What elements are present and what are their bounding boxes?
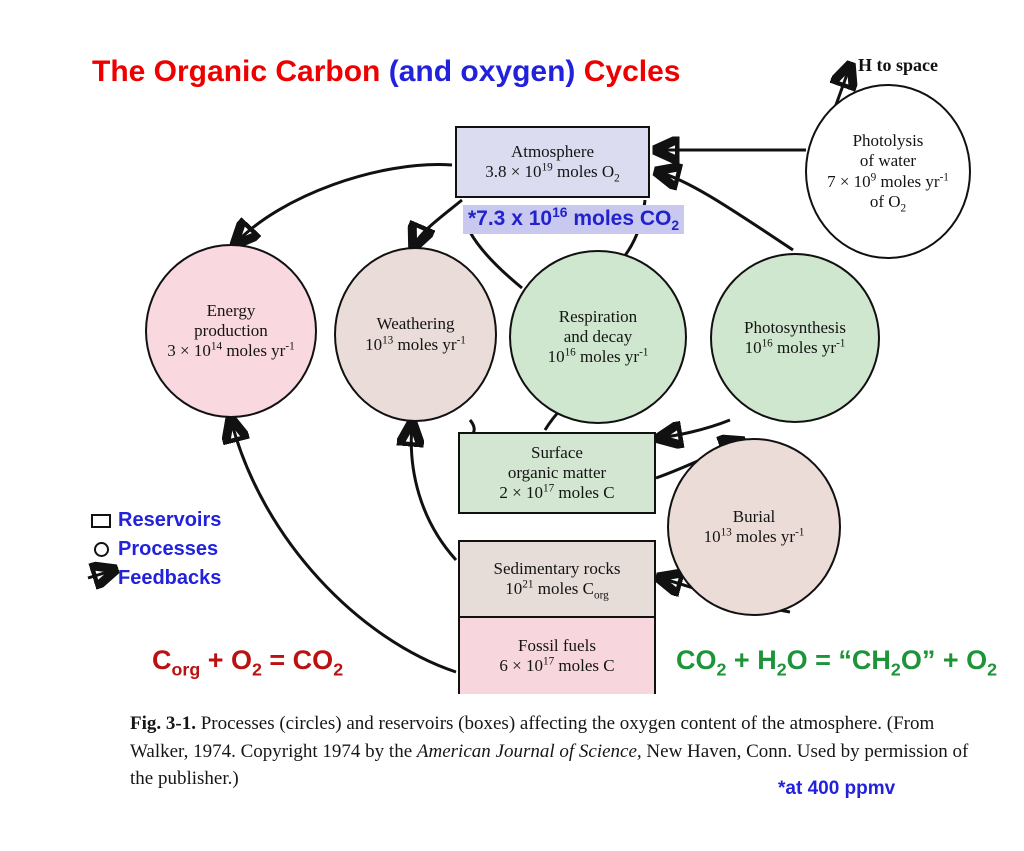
photosynthesis-text: Photosynthesis 1016 moles yr-1	[744, 318, 846, 358]
weathering-value: 1013 moles yr-1	[365, 335, 466, 355]
reservoir-fossil-fuels[interactable]: Fossil fuels 6 × 1017 moles C	[460, 618, 654, 694]
arrow-photosynthesis-to-surface-organic	[660, 420, 730, 438]
page-title: The Organic Carbon (and oxygen) Cycles	[92, 55, 680, 89]
square-icon	[84, 514, 118, 528]
photolysis-text: Photolysis of water 7 × 109 moles yr-1 o…	[827, 131, 949, 211]
legend-label-reservoirs: Reservoirs	[118, 509, 221, 532]
fossil-fuels-value: 6 × 1017 moles C	[499, 656, 614, 676]
photolysis-value: 7 × 109 moles yr-1	[827, 172, 949, 192]
atmosphere-label: Atmosphere	[485, 142, 620, 162]
energy-label-2: production	[167, 321, 294, 341]
title-part-cycles: Cycles	[575, 55, 680, 88]
sedimentary-value: 1021 moles Corg	[494, 579, 621, 599]
legend-item-processes: Processes	[84, 535, 221, 564]
reservoir-rocks-and-fuels[interactable]: Sedimentary rocks 1021 moles Corg Fossil…	[458, 540, 656, 694]
weathering-text: Weathering 1013 moles yr-1	[365, 314, 466, 354]
energy-text: Energy production 3 × 1014 moles yr-1	[167, 301, 294, 361]
burial-label: Burial	[704, 507, 805, 527]
fossil-fuels-label: Fossil fuels	[499, 636, 614, 656]
respiration-value: 1016 moles yr-1	[548, 347, 649, 367]
h-to-space-label: H to space	[858, 55, 938, 76]
equation-photosynthesis: CO2 + H2O = “CH2O” + O2	[676, 645, 997, 676]
surface-organic-label-1: Surface	[499, 443, 614, 463]
figure-canvas: The Organic Carbon (and oxygen) Cycles	[0, 0, 1024, 851]
process-energy-production[interactable]: Energy production 3 × 1014 moles yr-1	[145, 244, 317, 418]
reservoir-atmosphere[interactable]: Atmosphere 3.8 × 1019 moles O2	[455, 126, 650, 198]
legend-item-reservoirs: Reservoirs	[84, 506, 221, 535]
process-weathering[interactable]: Weathering 1013 moles yr-1	[334, 247, 497, 422]
legend-item-feedbacks: Feedbacks	[84, 564, 221, 593]
respiration-label-2: and decay	[548, 327, 649, 347]
fossil-fuels-text: Fossil fuels 6 × 1017 moles C	[499, 636, 614, 676]
energy-label-1: Energy	[167, 301, 294, 321]
caption-journal: American Journal of Science,	[417, 741, 642, 762]
legend-label-processes: Processes	[118, 538, 218, 561]
sedimentary-label: Sedimentary rocks	[494, 559, 621, 579]
burial-value: 1013 moles yr-1	[704, 527, 805, 547]
photolysis-label-1: Photolysis	[827, 131, 949, 151]
process-burial[interactable]: Burial 1013 moles yr-1	[667, 438, 841, 616]
weathering-label: Weathering	[365, 314, 466, 334]
atmosphere-text: Atmosphere 3.8 × 1019 moles O2	[485, 142, 620, 182]
photosynthesis-label: Photosynthesis	[744, 318, 846, 338]
co2-annotation: *7.3 x 1016 moles CO2	[463, 205, 684, 234]
arrow-atmosphere-to-energy	[236, 165, 452, 243]
surface-organic-value: 2 × 1017 moles C	[499, 483, 614, 503]
legend: Reservoirs Processes Feedbacks	[84, 506, 221, 593]
surface-organic-label-2: organic matter	[499, 463, 614, 483]
reservoir-sedimentary-rocks[interactable]: Sedimentary rocks 1021 moles Corg	[460, 542, 654, 618]
arrow-atmosphere-to-weathering	[414, 200, 462, 246]
reservoir-surface-organic-matter[interactable]: Surface organic matter 2 × 1017 moles C	[458, 432, 656, 514]
photolysis-label-2: of water	[827, 151, 949, 171]
title-part-organic-carbon: The Organic Carbon	[92, 55, 389, 88]
circle-icon	[84, 542, 118, 557]
respiration-text: Respiration and decay 1016 moles yr-1	[548, 307, 649, 367]
process-photolysis-of-water[interactable]: Photolysis of water 7 × 109 moles yr-1 o…	[805, 84, 971, 259]
atmosphere-value: 3.8 × 1019 moles O2	[485, 162, 620, 182]
respiration-label-1: Respiration	[548, 307, 649, 327]
arrow-fossil-fuels-to-energy	[231, 420, 456, 672]
sedimentary-text: Sedimentary rocks 1021 moles Corg	[494, 559, 621, 599]
energy-value: 3 × 1014 moles yr-1	[167, 341, 294, 361]
figure-number: Fig. 3-1.	[130, 713, 196, 734]
surface-organic-text: Surface organic matter 2 × 1017 moles C	[499, 443, 614, 503]
ppmv-annotation: *at 400 ppmv	[778, 778, 895, 800]
title-part-and-oxygen: (and oxygen)	[389, 55, 576, 88]
photosynthesis-value: 1016 moles yr-1	[744, 338, 846, 358]
arrow-sedimentary-to-weathering	[411, 424, 456, 560]
process-respiration-and-decay[interactable]: Respiration and decay 1016 moles yr-1	[509, 250, 687, 424]
legend-label-feedbacks: Feedbacks	[118, 567, 221, 590]
photolysis-species: of O2	[827, 192, 949, 212]
process-photosynthesis[interactable]: Photosynthesis 1016 moles yr-1	[710, 253, 880, 423]
burial-text: Burial 1013 moles yr-1	[704, 507, 805, 547]
equation-oxidation: Corg + O2 = CO2	[152, 645, 343, 676]
